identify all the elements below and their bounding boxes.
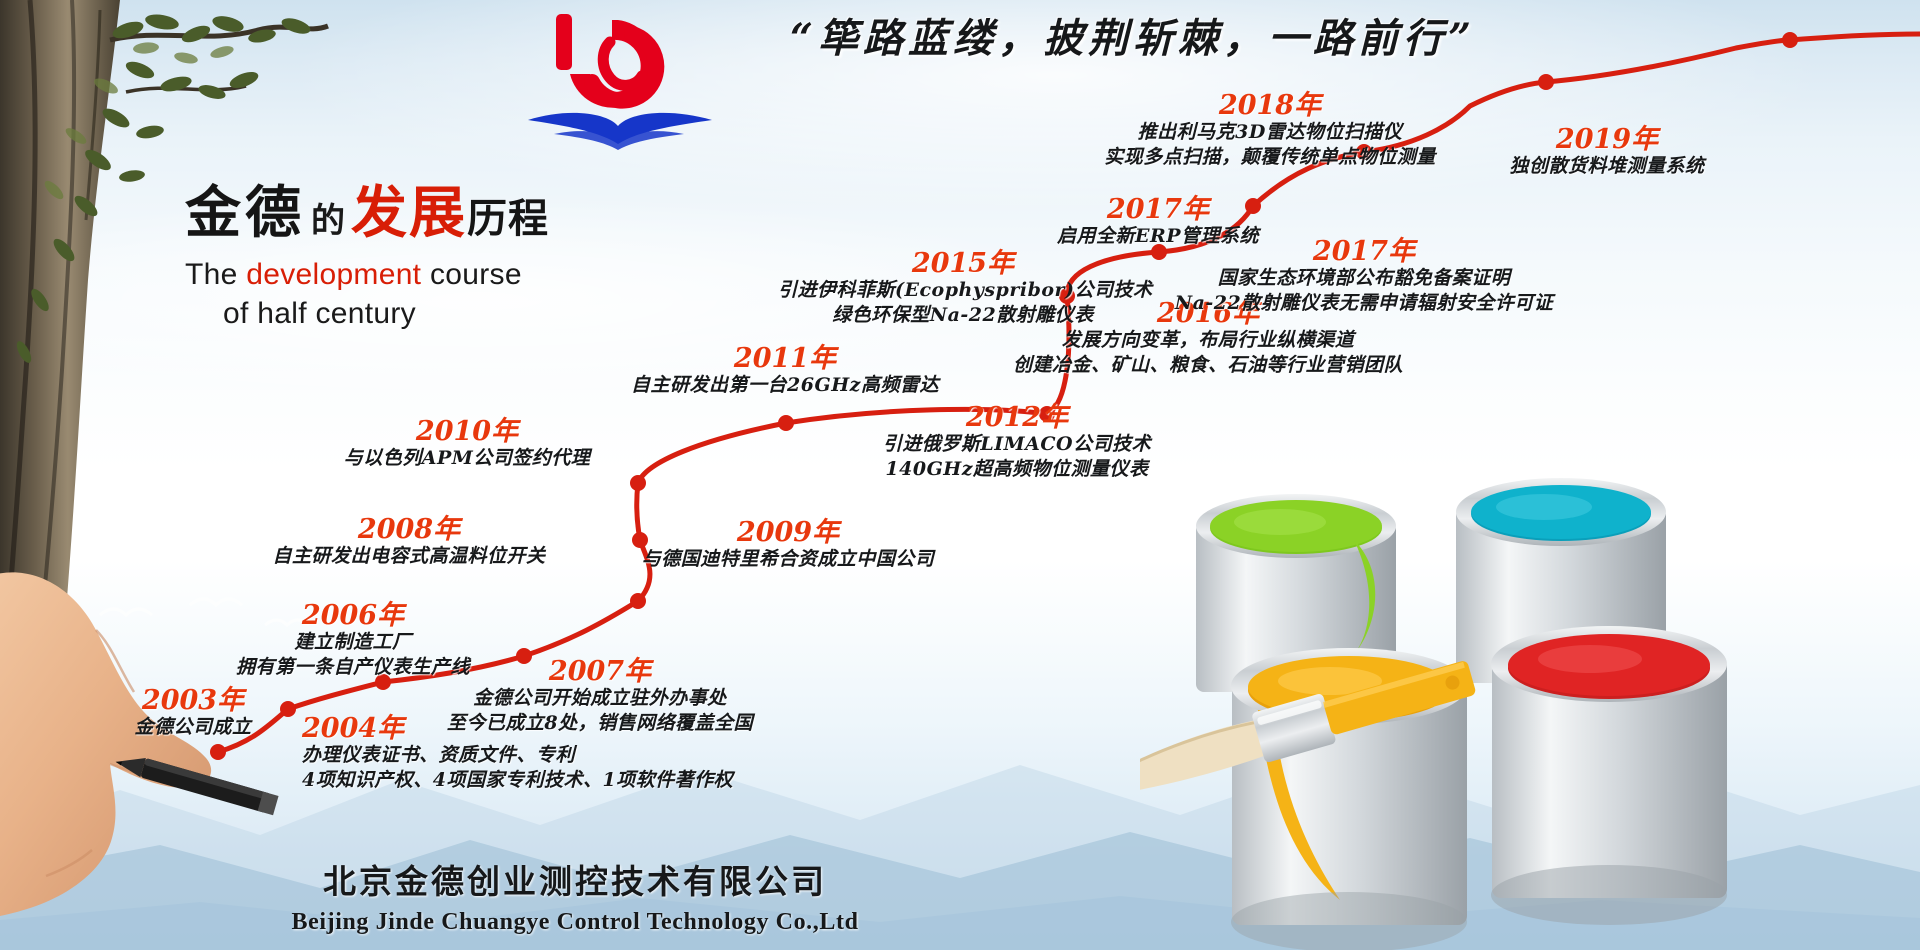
timeline-event-y2018: 2018年推出利马克3D雷达物位扫描仪实现多点扫描，颠覆传统单点物位测量 — [1060, 92, 1480, 171]
timeline-year-y2011: 2011年 — [600, 345, 970, 373]
company-name-en: Beijing Jinde Chuangye Control Technolog… — [0, 909, 1150, 936]
timeline-year-y2010: 2010年 — [292, 418, 642, 446]
paint-can-red — [1491, 626, 1727, 925]
timeline-year-y2019: 2019年 — [1452, 126, 1762, 154]
timeline-event-y2012: 2012年引进俄罗斯LIMACO公司技术140GHz超高频物位测量仪表 — [852, 404, 1182, 483]
footer-block: 北京金德创业测控技术有限公司 Beijing Jinde Chuangye Co… — [0, 855, 1150, 936]
timeline-event-y2011: 2011年自主研发出第一台26GHz高频雷达 — [600, 345, 970, 398]
poster-canvas: “筚路蓝缕，披荆斩棘，一路前行” 金德的发展历程 The development… — [0, 0, 1920, 950]
timeline-desc-y2003-1: 金德公司成立 — [78, 715, 308, 740]
timeline-event-y2010: 2010年与以色列APM公司签约代理 — [292, 418, 642, 471]
timeline-event-y2003: 2003年金德公司成立 — [78, 687, 308, 740]
timeline-desc-y2006-1: 建立制造工厂 — [208, 630, 498, 655]
timeline-desc-y2016-2: 创建冶金、矿山、粮食、石油等行业营销团队 — [1008, 353, 1408, 378]
paint-cans-illustration — [1140, 390, 1920, 950]
timeline-desc-y2010-1: 与以色列APM公司签约代理 — [292, 446, 642, 471]
timeline-desc-y2018-1: 推出利马克3D雷达物位扫描仪 — [1060, 120, 1480, 145]
timeline-desc-y2004-2: 4项知识产权、4项国家专利技术、1项软件著作权 — [302, 768, 772, 793]
timeline-year-y2006: 2006年 — [208, 602, 498, 630]
timeline-node-y2010[interactable] — [630, 475, 646, 491]
timeline-desc-y2017b-2: Na-22散射雕仪表无需申请辐射安全许可证 — [1174, 291, 1554, 316]
timeline-year-y2015: 2015年 — [778, 250, 1148, 278]
timeline-desc-y2007-2: 至今已成立8处，销售网络覆盖全国 — [400, 711, 800, 736]
timeline-event-y2017b: 2017年国家生态环境部公布豁免备案证明Na-22散射雕仪表无需申请辐射安全许可… — [1174, 238, 1554, 317]
timeline-desc-y2011-1: 自主研发出第一台26GHz高频雷达 — [600, 373, 970, 398]
timeline-event-y2008: 2008年自主研发出电容式高温料位开关 — [224, 516, 594, 569]
timeline-desc-y2008-1: 自主研发出电容式高温料位开关 — [224, 544, 594, 569]
timeline-desc-y2016-1: 发展方向变革，布局行业纵横渠道 — [1008, 328, 1408, 353]
company-name-cn: 北京金德创业测控技术有限公司 — [0, 855, 1150, 903]
timeline-desc-y2004-1: 办理仪表证书、资质文件、专利 — [302, 743, 772, 768]
timeline-desc-y2019-1: 独创散货料堆测量系统 — [1452, 154, 1762, 179]
timeline-event-y2009: 2009年与德国迪特里希合资成立中国公司 — [588, 519, 988, 572]
timeline-desc-y2018-2: 实现多点扫描，颠覆传统单点物位测量 — [1060, 145, 1480, 170]
timeline-desc-y2012-1: 引进俄罗斯LIMACO公司技术 — [852, 432, 1182, 457]
timeline-node-y2003[interactable] — [210, 744, 226, 760]
timeline-desc-y2017b-1: 国家生态环境部公布豁免备案证明 — [1174, 266, 1554, 291]
timeline-node-y2008[interactable] — [630, 593, 646, 609]
timeline-node-y2011[interactable] — [778, 415, 794, 431]
timeline-node-y2018[interactable] — [1538, 74, 1554, 90]
timeline-year-y2008: 2008年 — [224, 516, 594, 544]
timeline-event-y2007: 2007年金德公司开始成立驻外办事处至今已成立8处，销售网络覆盖全国 — [400, 658, 800, 737]
timeline-year-y2003: 2003年 — [78, 687, 308, 715]
timeline-event-y2019: 2019年独创散货料堆测量系统 — [1452, 126, 1762, 179]
timeline-node-y2019[interactable] — [1782, 32, 1798, 48]
timeline-year-y2018: 2018年 — [1060, 92, 1480, 120]
timeline-year-y2007: 2007年 — [400, 658, 800, 686]
timeline-year-y2017a: 2017年 — [1008, 196, 1308, 224]
timeline-year-y2017b: 2017年 — [1174, 238, 1554, 266]
timeline-year-y2009: 2009年 — [588, 519, 988, 547]
timeline-desc-y2007-1: 金德公司开始成立驻外办事处 — [400, 686, 800, 711]
timeline-desc-y2009-1: 与德国迪特里希合资成立中国公司 — [588, 547, 988, 572]
timeline-year-y2012: 2012年 — [852, 404, 1182, 432]
timeline-desc-y2012-2: 140GHz超高频物位测量仪表 — [852, 457, 1182, 482]
